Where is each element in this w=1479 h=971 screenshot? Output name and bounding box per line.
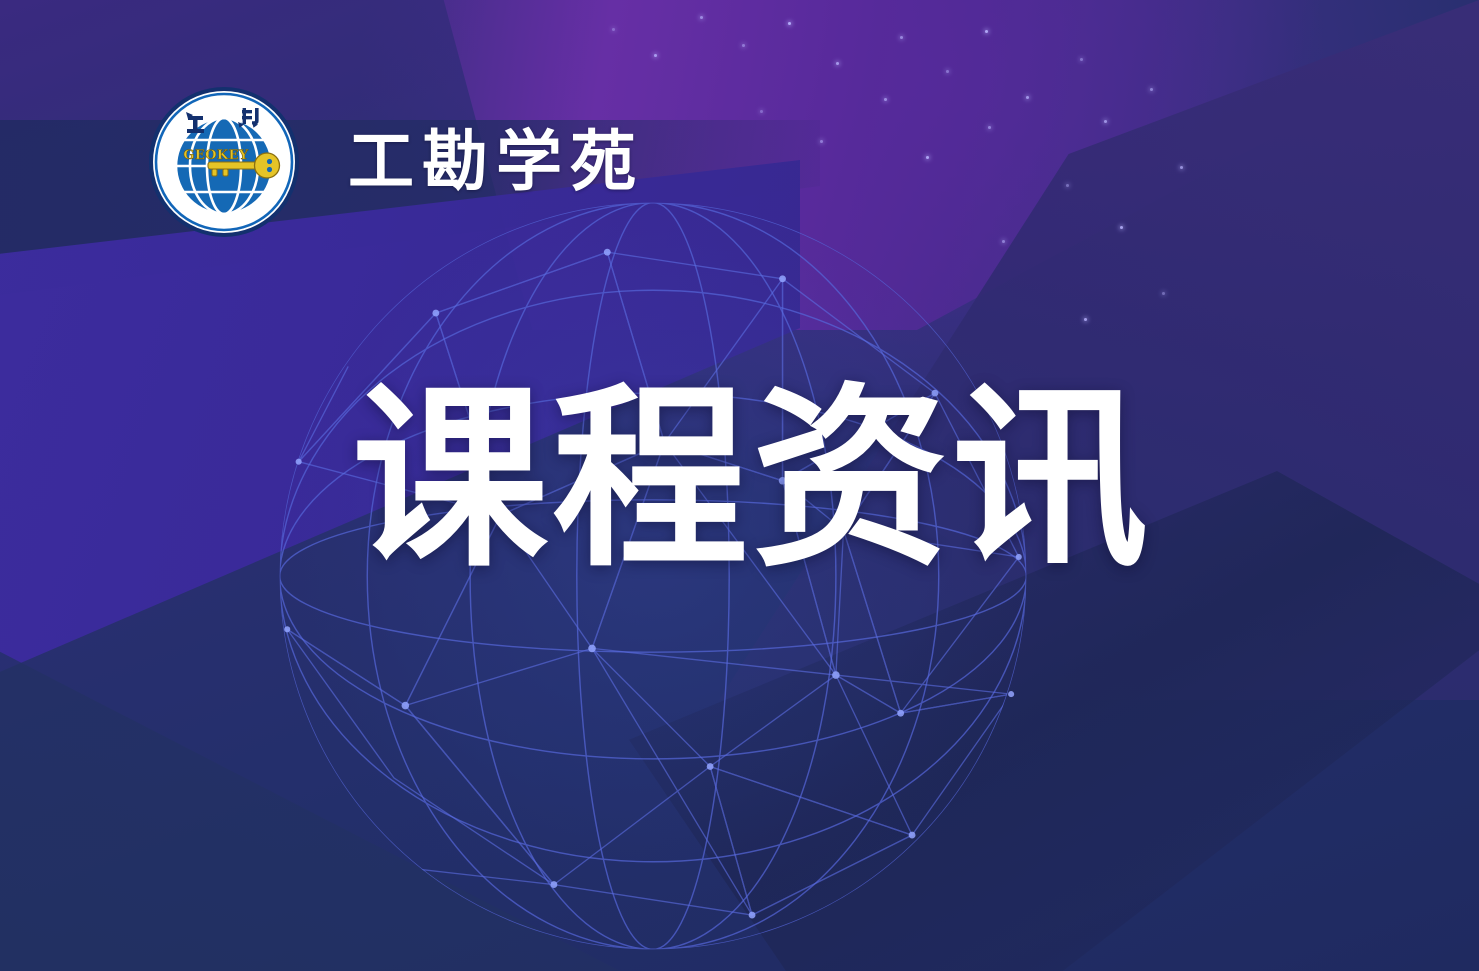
course-info-banner: GEOKEY 工勘学苑 课程资讯 — [0, 0, 1479, 971]
brand-row: GEOKEY 工勘学苑 — [148, 86, 644, 238]
geokey-globe-logo-icon: GEOKEY — [148, 86, 300, 238]
page-title: 课程资讯 — [352, 378, 1152, 584]
brand-name: 工勘学苑 — [348, 129, 644, 195]
logo-wordmark: GEOKEY — [183, 148, 249, 163]
